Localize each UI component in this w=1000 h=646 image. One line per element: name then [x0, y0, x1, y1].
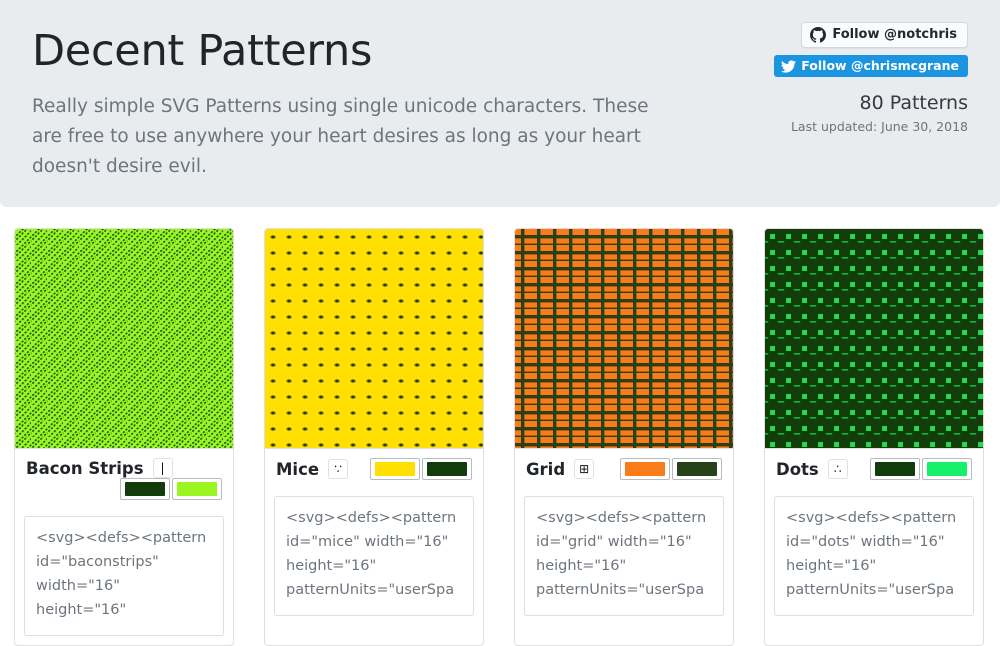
- pattern-code-text: <svg><defs><pattern id="grid" width="16"…: [536, 506, 712, 602]
- pattern-code-block[interactable]: <svg><defs><pattern id="mice" width="16"…: [274, 496, 474, 616]
- pattern-preview[interactable]: [265, 229, 483, 448]
- github-follow-label: Follow @notchris: [832, 27, 957, 43]
- pattern-code-block[interactable]: <svg><defs><pattern id="baconstrips" wid…: [24, 516, 224, 636]
- pattern-title: Bacon Strips: [26, 459, 144, 478]
- pattern-card: Bacon Strips | <svg><defs><pattern id="b…: [14, 228, 234, 646]
- pattern-card-grid: Bacon Strips | <svg><defs><pattern id="b…: [0, 207, 1000, 646]
- color-swatch-group: [370, 458, 472, 480]
- pattern-card-header: Dots ∴: [765, 448, 983, 489]
- color-swatch[interactable]: [922, 458, 972, 480]
- pattern-card: Mice ∵ <svg><defs><pattern id="mice" wid…: [264, 228, 484, 646]
- color-swatch[interactable]: [620, 458, 670, 480]
- color-swatch[interactable]: [672, 458, 722, 480]
- color-swatch-group: [870, 458, 972, 480]
- github-follow-button[interactable]: Follow @notchris: [801, 22, 968, 48]
- pattern-preview[interactable]: [515, 229, 733, 448]
- page-header-banner: Decent Patterns Really simple SVG Patter…: [0, 0, 1000, 207]
- twitter-follow-button[interactable]: Follow @chrismcgrane: [774, 55, 968, 77]
- color-swatch-group: [620, 458, 722, 480]
- twitter-bird-icon: [781, 59, 796, 74]
- pattern-code-text: <svg><defs><pattern id="mice" width="16"…: [286, 506, 462, 602]
- pattern-card-header: Mice ∵: [265, 448, 483, 489]
- pattern-title: Mice: [276, 460, 319, 479]
- last-updated-text: Last updated: June 30, 2018: [748, 119, 968, 134]
- unicode-glyph-badge[interactable]: ∴: [828, 459, 848, 479]
- unicode-glyph-badge[interactable]: |: [153, 458, 173, 478]
- pattern-preview[interactable]: [765, 229, 983, 448]
- pattern-title: Dots: [776, 460, 819, 479]
- header-social-area: Follow @notchris Follow @chrismcgrane 80…: [748, 22, 968, 134]
- color-swatch[interactable]: [422, 458, 472, 480]
- pattern-title: Grid: [526, 460, 565, 479]
- github-icon: [810, 27, 826, 43]
- pattern-code-text: <svg><defs><pattern id="dots" width="16"…: [786, 506, 962, 602]
- pattern-code-text: <svg><defs><pattern id="baconstrips" wid…: [36, 526, 212, 622]
- unicode-glyph-badge[interactable]: ∵: [328, 459, 348, 479]
- color-swatch[interactable]: [172, 478, 222, 500]
- pattern-code-block[interactable]: <svg><defs><pattern id="dots" width="16"…: [774, 496, 974, 616]
- pattern-card-header: Grid ⊞: [515, 448, 733, 489]
- pattern-preview[interactable]: [15, 229, 233, 448]
- pattern-card: Dots ∴ <svg><defs><pattern id="dots" wid…: [764, 228, 984, 646]
- color-swatch[interactable]: [370, 458, 420, 480]
- pattern-card: Grid ⊞ <svg><defs><pattern id="grid" wid…: [514, 228, 734, 646]
- pattern-code-block[interactable]: <svg><defs><pattern id="grid" width="16"…: [524, 496, 724, 616]
- color-swatch[interactable]: [120, 478, 170, 500]
- color-swatch-group: [120, 478, 222, 500]
- pattern-count: 80 Patterns: [748, 92, 968, 114]
- pattern-card-header: Bacon Strips |: [15, 448, 233, 509]
- unicode-glyph-badge[interactable]: ⊞: [574, 459, 594, 479]
- page-lead-text: Really simple SVG Patterns using single …: [32, 92, 672, 182]
- twitter-follow-label: Follow @chrismcgrane: [801, 58, 959, 74]
- color-swatch[interactable]: [870, 458, 920, 480]
